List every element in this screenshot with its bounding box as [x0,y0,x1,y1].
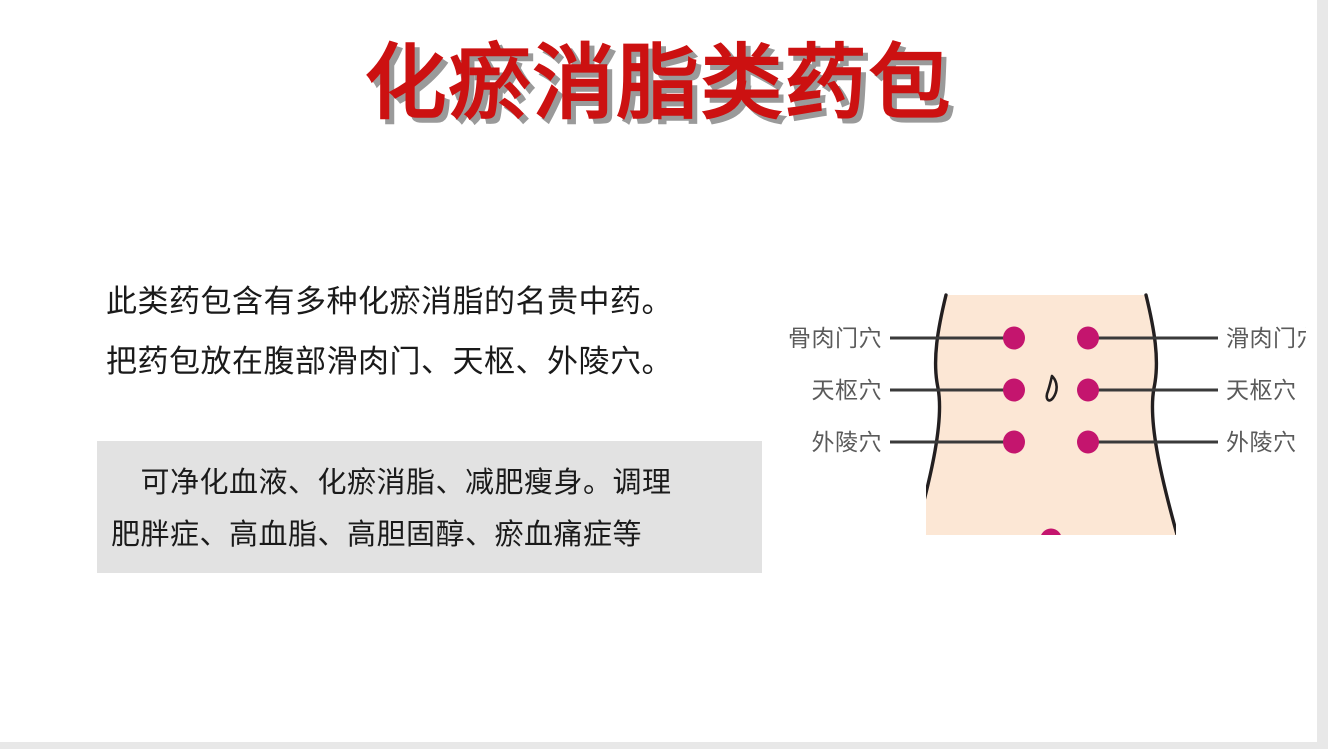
acupoint-dot-right-huaroumen [1077,327,1099,350]
acupoint-label-right-2: 天枢穴 [1226,378,1297,404]
intro-line-2: 把药包放在腹部滑肉门、天枢、外陵穴。 [106,332,746,392]
effects-line-1: 可净化血液、化瘀消脂、减肥瘦身。调理 [111,457,756,509]
effects-line-2: 肥胖症、高血脂、高胆固醇、瘀血痛症等 [111,509,756,561]
torso-fill [914,295,1178,538]
abdomen-acupoint-diagram: 骨肉门穴 天枢穴 外陵穴 滑肉门穴 天枢穴 外陵穴 [786,288,1306,543]
intro-paragraph: 此类药包含有多种化瘀消脂的名贵中药。 把药包放在腹部滑肉门、天枢、外陵穴。 [106,272,746,392]
acupoint-label-right-3: 外陵穴 [1226,430,1297,456]
acupoint-label-right-1: 滑肉门穴 [1226,326,1306,352]
slide-canvas: 化瘀消脂类药包 此类药包含有多种化瘀消脂的名贵中药。 把药包放在腹部滑肉门、天枢… [0,0,1328,749]
acupoint-dot-right-wailing [1077,431,1099,454]
acupoint-label-left-1: 骨肉门穴 [788,326,882,352]
effects-text: 可净化血液、化瘀消脂、减肥瘦身。调理 肥胖症、高血脂、高胆固醇、瘀血痛症等 [111,457,756,561]
acupoint-dot-left-huaroumen [1003,327,1025,350]
acupoint-dot-right-tianshu [1077,379,1099,402]
page-title: 化瘀消脂类药包 [0,36,1317,132]
intro-line-1: 此类药包含有多种化瘀消脂的名贵中药。 [106,272,746,332]
acupoint-label-left-2: 天枢穴 [812,378,883,404]
abdomen-diagram-svg: 骨肉门穴 天枢穴 外陵穴 滑肉门穴 天枢穴 外陵穴 [786,288,1306,543]
acupoint-label-left-3: 外陵穴 [812,430,883,456]
acupoint-dot-left-wailing [1003,431,1025,454]
torso-shape [914,295,1178,538]
effects-highlight-box: 可净化血液、化瘀消脂、减肥瘦身。调理 肥胖症、高血脂、高胆固醇、瘀血痛症等 [97,441,762,573]
acupoint-dot-left-tianshu [1003,379,1025,402]
